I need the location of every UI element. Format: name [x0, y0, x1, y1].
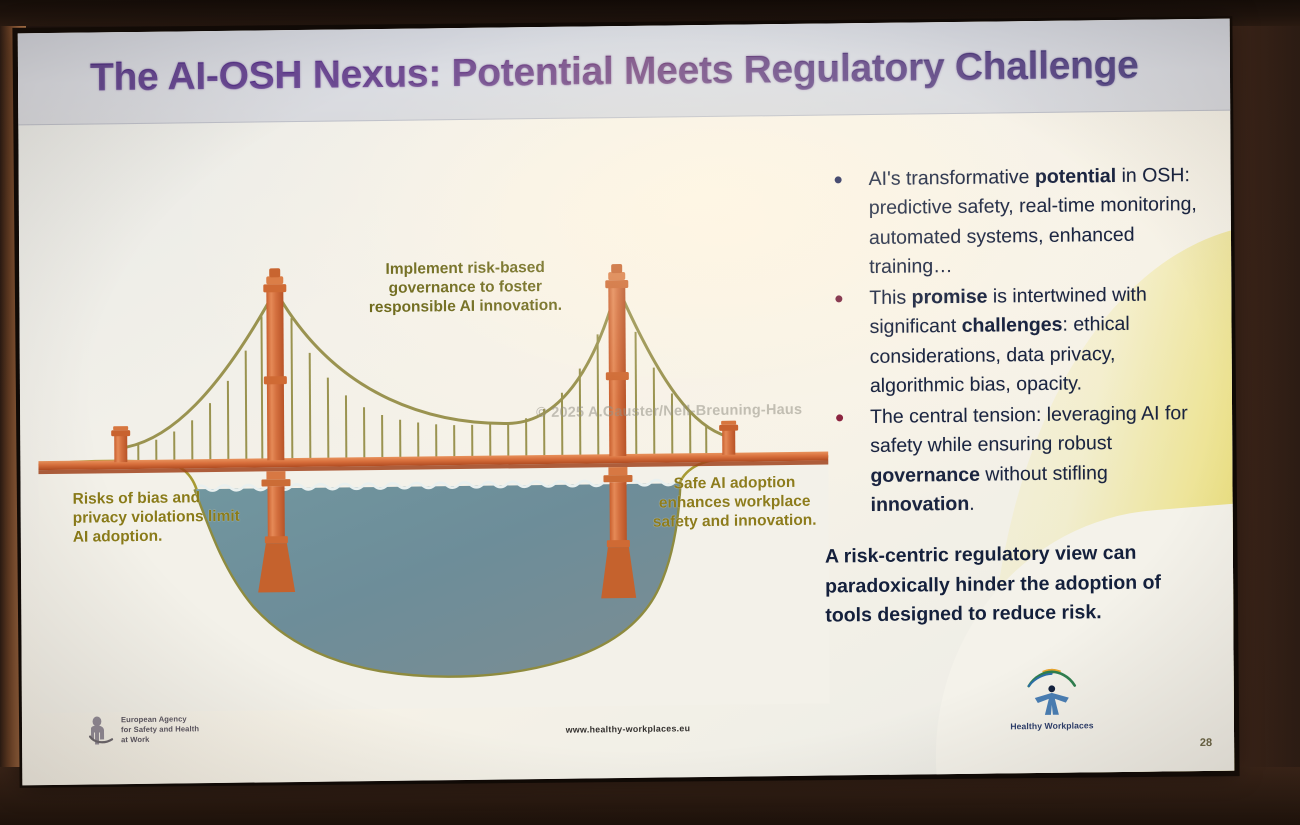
label-top-governance: Implement risk-based governance to foste…: [367, 259, 563, 318]
agency-line-3: at Work: [121, 734, 199, 745]
agency-line-2: for Safety and Health: [121, 724, 199, 735]
bullet-item: AI's transformative potential in OSH: pr…: [819, 161, 1200, 283]
bullet-text: AI's transformative potential in OSH: pr…: [869, 164, 1197, 278]
label-left-risks: Risks of bias and privacy violations lim…: [73, 489, 257, 548]
label-right-safe-adoption: Safe AI adoption enhances workplace safe…: [642, 474, 826, 533]
presentation-slide: The AI-OSH Nexus: Potential Meets Regula…: [18, 19, 1235, 786]
page-number: 28: [1200, 737, 1212, 749]
eu-osha-logo: European Agency for Safety and Health at…: [88, 713, 199, 746]
summary-statement: A risk-centric regulatory view can parad…: [821, 538, 1202, 632]
anchor-pylon-right: [719, 421, 738, 455]
bullet-dot-icon: [836, 414, 843, 421]
bullet-list: AI's transformative potential in OSH: pr…: [819, 161, 1201, 521]
eu-osha-logo-text: European Agency for Safety and Health at…: [121, 714, 199, 745]
eu-osha-figure-icon: [88, 714, 114, 746]
bridge-svg: [36, 134, 829, 714]
bullet-text: The central tension: leveraging AI for s…: [870, 402, 1188, 516]
healthy-workplaces-logo: Healthy Workplaces: [996, 662, 1108, 731]
bullet-text: This promise is intertwined with signifi…: [869, 284, 1147, 397]
bullet-item: This promise is intertwined with signifi…: [819, 280, 1200, 402]
copyright-watermark: © 2025 A.Gauster/Nell-Breuning-Haus: [536, 402, 802, 421]
projected-slide-photo: The AI-OSH Nexus: Potential Meets Regula…: [0, 0, 1300, 825]
bullet-item: The central tension: leveraging AI for s…: [820, 399, 1201, 521]
content-column: AI's transformative potential in OSH: pr…: [819, 161, 1202, 632]
anchor-pylon-left: [111, 426, 130, 462]
bullet-dot-icon: [835, 176, 842, 183]
healthy-workplaces-label: Healthy Workplaces: [996, 720, 1108, 731]
bridge-diagram: Implement risk-based governance to foste…: [36, 134, 829, 714]
healthy-workplaces-figure-icon: [1021, 662, 1083, 719]
bullet-dot-icon: [835, 295, 842, 302]
campaign-url[interactable]: www.healthy-workplaces.eu: [566, 723, 691, 735]
